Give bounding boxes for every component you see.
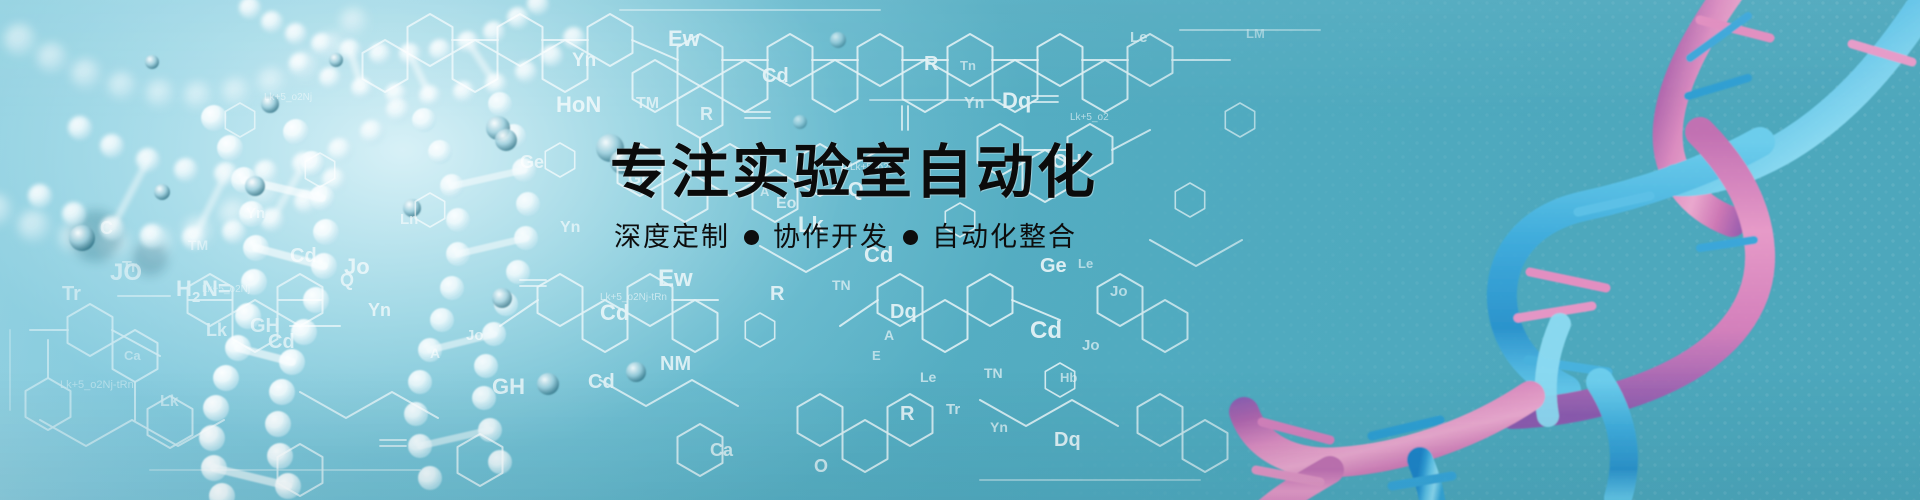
- hero-banner: Ew Cd Yn R Tn Yn Dq Le LM HoN TM R OH Q …: [0, 0, 1920, 500]
- banner-vignette: [0, 0, 1920, 500]
